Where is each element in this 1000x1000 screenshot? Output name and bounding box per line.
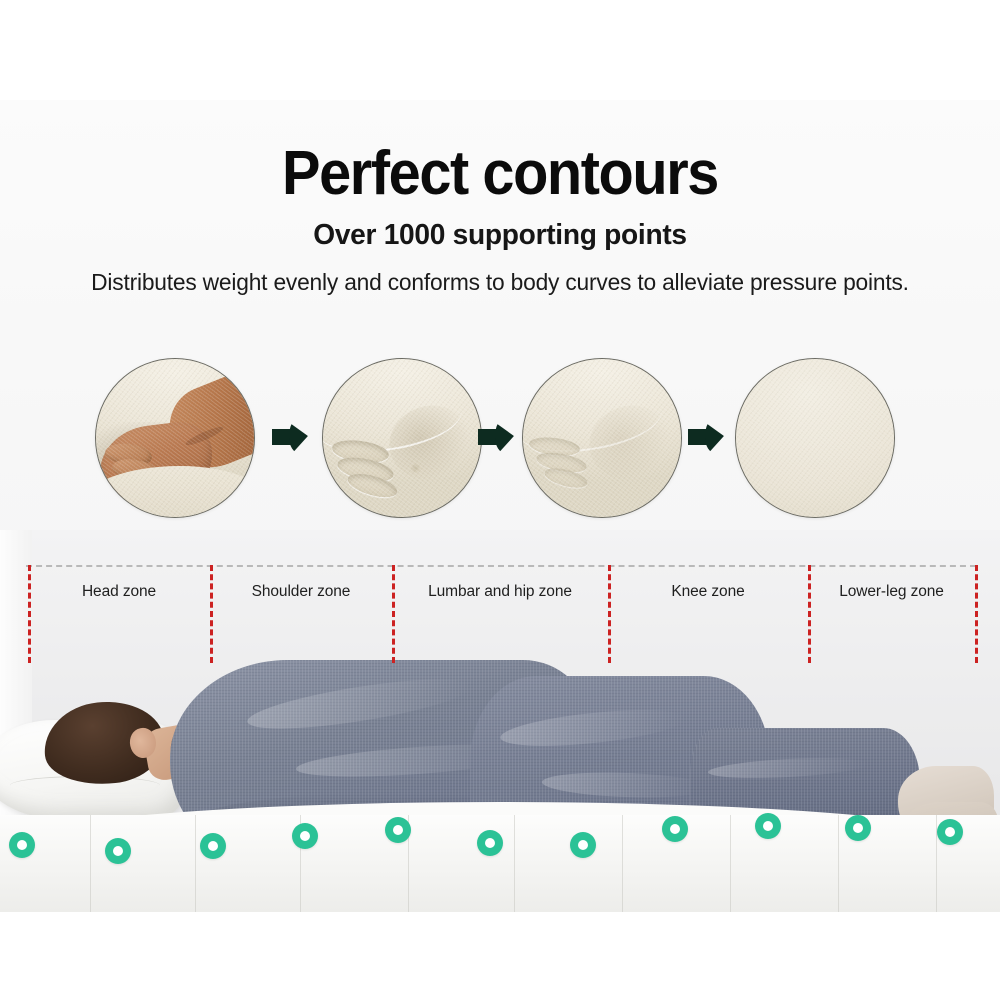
support-point-marker-center — [208, 841, 218, 851]
support-point-marker-center — [393, 825, 403, 835]
page-description: Distributes weight evenly and conforms t… — [5, 268, 995, 296]
support-point-marker-center — [763, 821, 773, 831]
zone-divider-0 — [28, 565, 31, 663]
arrow-right-icon-3 — [688, 420, 724, 454]
arrow-right-icon-1 — [272, 420, 308, 454]
zone-top-rule — [26, 565, 976, 567]
support-point-marker-8 — [755, 813, 781, 839]
foam-recovery-sequence — [0, 358, 1000, 523]
support-point-marker-4 — [385, 817, 411, 843]
support-point-marker-1 — [105, 838, 131, 864]
support-point-marker-2 — [200, 833, 226, 859]
zone-divider-4 — [808, 565, 811, 663]
support-point-marker-6 — [570, 832, 596, 858]
headline-block: Perfect contours Over 1000 supporting po… — [0, 140, 1000, 296]
product-feature-page: Perfect contours Over 1000 supporting po… — [0, 0, 1000, 1000]
zone-label-lumbar-and-hip: Lumbar and hip zone — [392, 583, 608, 601]
support-point-marker-center — [670, 824, 680, 834]
bottom-white-band — [0, 912, 1000, 1000]
zone-divider-1 — [210, 565, 213, 663]
support-point-marker-9 — [845, 815, 871, 841]
support-point-marker-center — [578, 840, 588, 850]
page-subtitle: Over 1000 supporting points — [15, 218, 985, 252]
zone-label-shoulder: Shoulder zone — [210, 583, 392, 601]
support-point-marker-5 — [477, 830, 503, 856]
zone-label-head: Head zone — [28, 583, 210, 601]
support-point-marker-center — [300, 831, 310, 841]
foam-step-deep-imprint — [322, 358, 482, 518]
zone-divider-2 — [392, 565, 395, 663]
support-point-marker-7 — [662, 816, 688, 842]
support-point-marker-0 — [9, 832, 35, 858]
zone-divider-3 — [608, 565, 611, 663]
foam-step-hand-pressing-foam — [95, 358, 255, 518]
support-point-marker-center — [17, 840, 27, 850]
support-point-marker-center — [945, 827, 955, 837]
zone-label-knee: Knee zone — [608, 583, 808, 601]
zone-label-lower-leg: Lower-leg zone — [808, 583, 975, 601]
zone-divider-5 — [975, 565, 978, 663]
page-title: Perfect contours — [35, 140, 965, 208]
support-point-marker-center — [853, 823, 863, 833]
foam-step-fully-recovered — [735, 358, 895, 518]
support-point-marker-3 — [292, 823, 318, 849]
support-point-marker-center — [485, 838, 495, 848]
arrow-right-icon-2 — [478, 420, 514, 454]
foam-step-partial-recovery — [522, 358, 682, 518]
support-point-marker-10 — [937, 819, 963, 845]
support-point-marker-center — [113, 846, 123, 856]
